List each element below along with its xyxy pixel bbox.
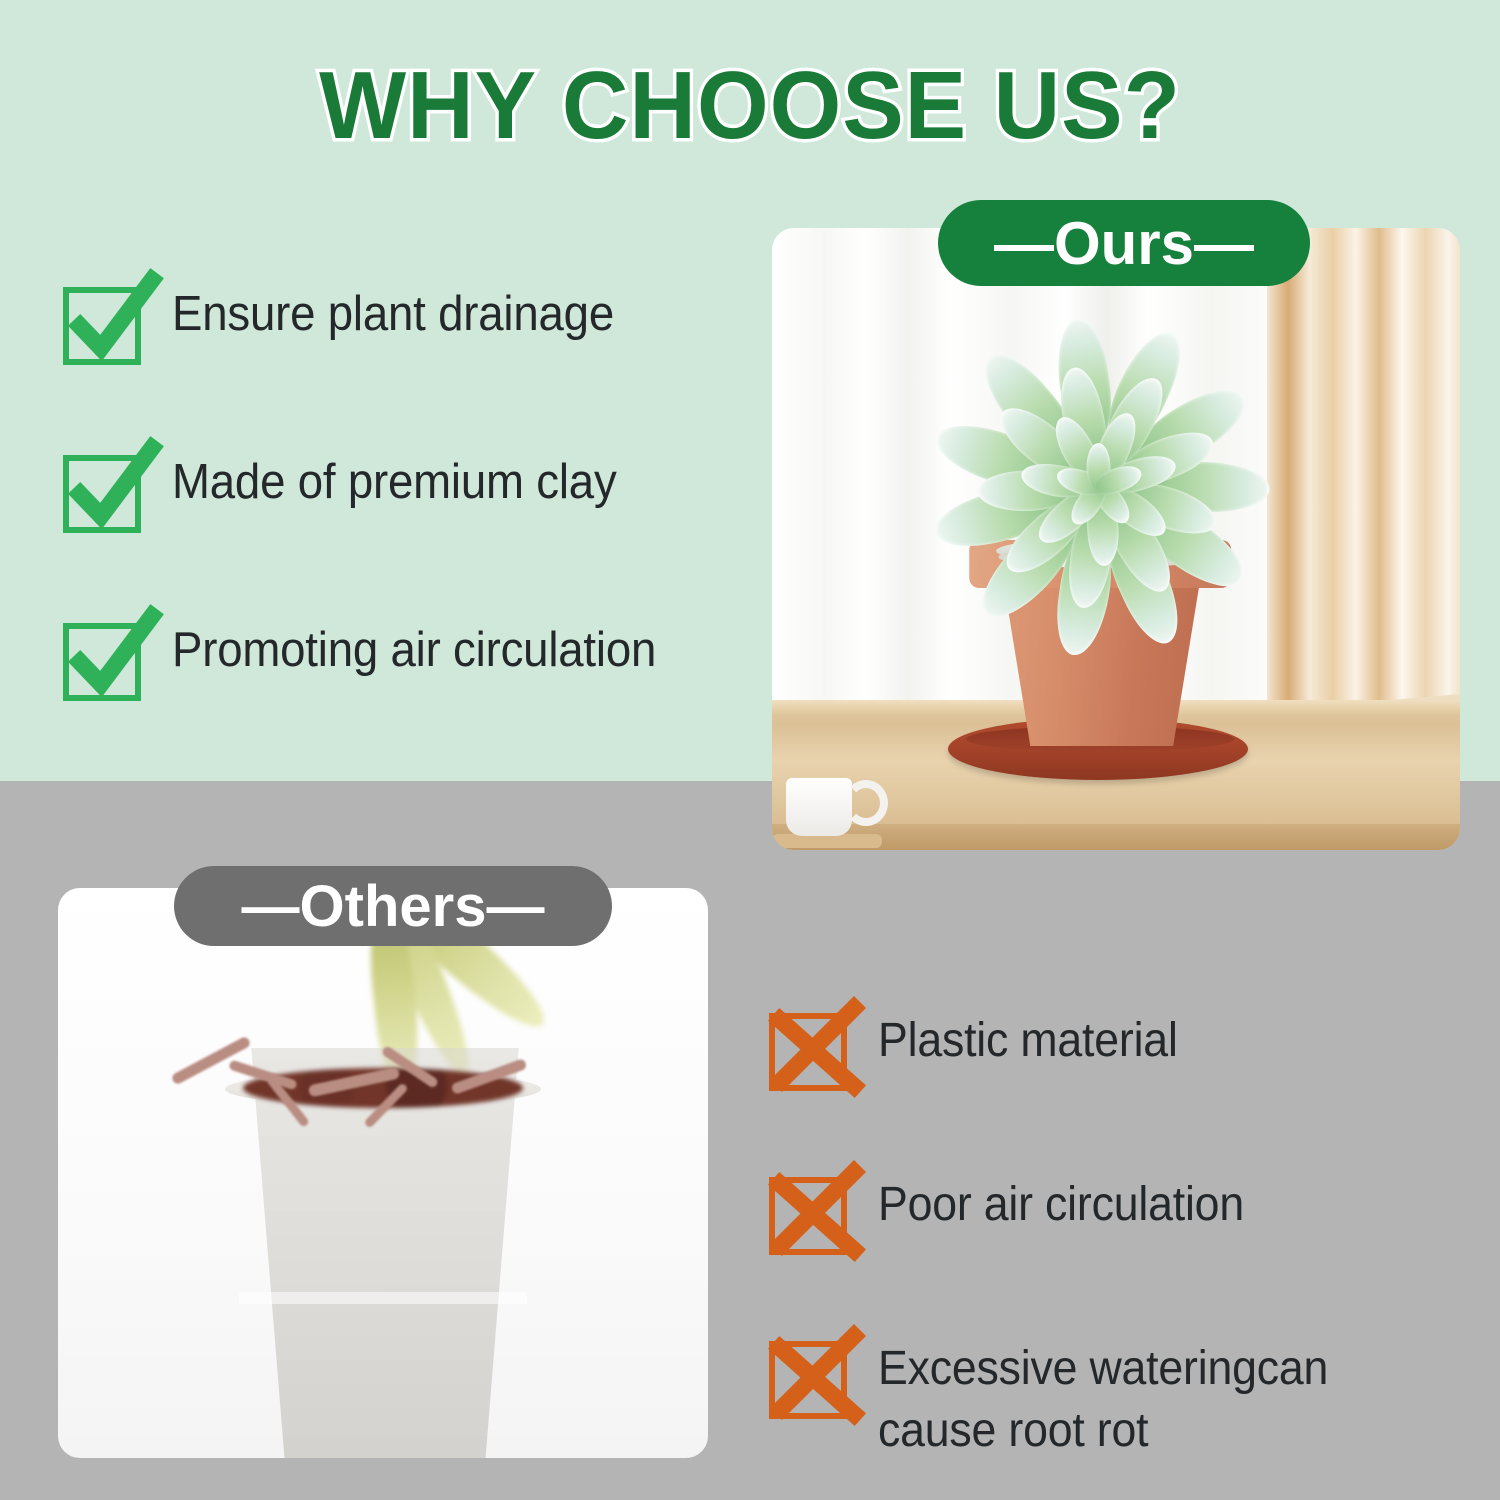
mug-coaster: [772, 834, 882, 848]
cross-icon: [768, 1336, 852, 1420]
drawback-row: Poor air circulation: [768, 1168, 1408, 1256]
page-title: WHY CHOOSE US?: [30, 56, 1470, 157]
drawback-label: Poor air circulation: [878, 1168, 1244, 1236]
others-badge: —Others—: [174, 866, 612, 946]
others-drawback-list: Plastic material Poor air circulation: [768, 1004, 1408, 1462]
drawback-label: Excessive wateringcan cause root rot: [878, 1332, 1328, 1462]
others-product-photo: [58, 888, 708, 1458]
feature-row: Ensure plant drainage: [62, 278, 752, 366]
cross-icon: [768, 1008, 852, 1092]
check-icon: [62, 618, 146, 702]
check-icon: [62, 282, 146, 366]
drawback-label: Plastic material: [878, 1004, 1178, 1072]
mug-handle: [844, 780, 888, 826]
white-mug: [786, 778, 852, 836]
feature-row: Made of premium clay: [62, 446, 752, 534]
ours-badge: —Ours—: [938, 200, 1310, 286]
feature-label: Promoting air circulation: [172, 614, 656, 680]
ours-product-photo: [772, 228, 1460, 850]
feature-label: Ensure plant drainage: [172, 278, 614, 344]
cross-icon: [768, 1172, 852, 1256]
feature-label: Made of premium clay: [172, 446, 617, 512]
drawback-row: Plastic material: [768, 1004, 1408, 1092]
plastic-cup-band: [239, 1292, 527, 1304]
feature-row: Promoting air circulation: [62, 614, 752, 702]
drawback-row: Excessive wateringcan cause root rot: [768, 1332, 1408, 1462]
ours-feature-list: Ensure plant drainage Made of premium cl…: [62, 278, 752, 702]
echeveria-succulent: [935, 392, 1265, 582]
check-icon: [62, 450, 146, 534]
infographic-canvas: WHY CHOOSE US?: [0, 0, 1500, 1500]
